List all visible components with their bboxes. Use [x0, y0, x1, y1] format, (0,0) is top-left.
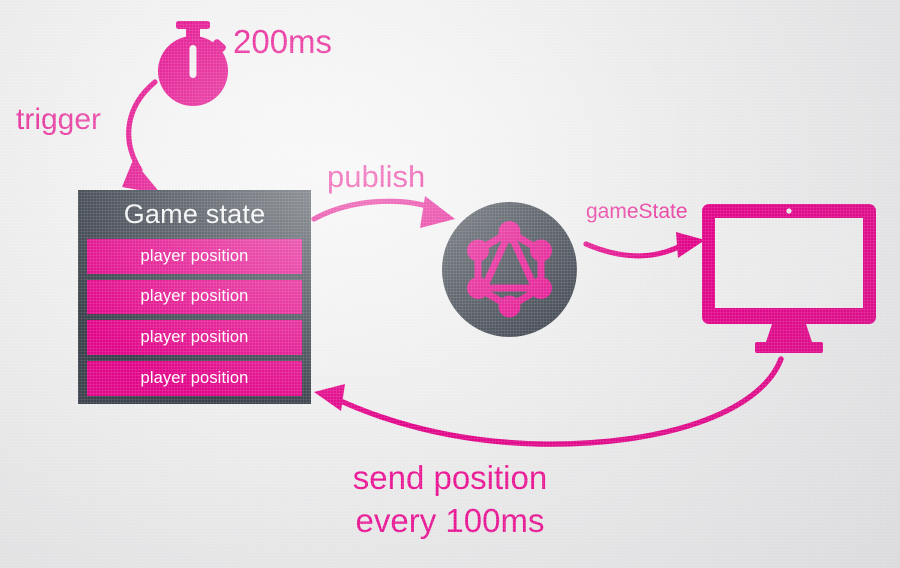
desktop-monitor-icon — [700, 202, 878, 358]
stopwatch-icon — [158, 21, 228, 106]
list-item: player position — [87, 239, 302, 274]
send-position-label: send position every 100ms — [0, 460, 900, 540]
list-item: player position — [87, 320, 302, 355]
gamestate-label: gameState — [586, 200, 688, 224]
graphql-logo-icon — [442, 202, 577, 337]
timer-interval-label: 200ms — [233, 24, 332, 61]
game-state-panel: Game state player position player positi… — [78, 190, 311, 404]
send-position-line1: send position — [353, 459, 547, 496]
list-item: player position — [87, 361, 302, 396]
client-monitor — [700, 202, 878, 358]
publish-label: publish — [327, 160, 425, 195]
game-state-title: Game state — [87, 196, 302, 233]
trigger-label: trigger — [16, 103, 101, 137]
diagram-canvas: .stroke-pink { stroke:#e2078a; fill:none… — [0, 0, 900, 568]
send-position-line2: every 100ms — [0, 503, 900, 540]
list-item: player position — [87, 280, 302, 315]
graphql-node — [442, 202, 577, 337]
